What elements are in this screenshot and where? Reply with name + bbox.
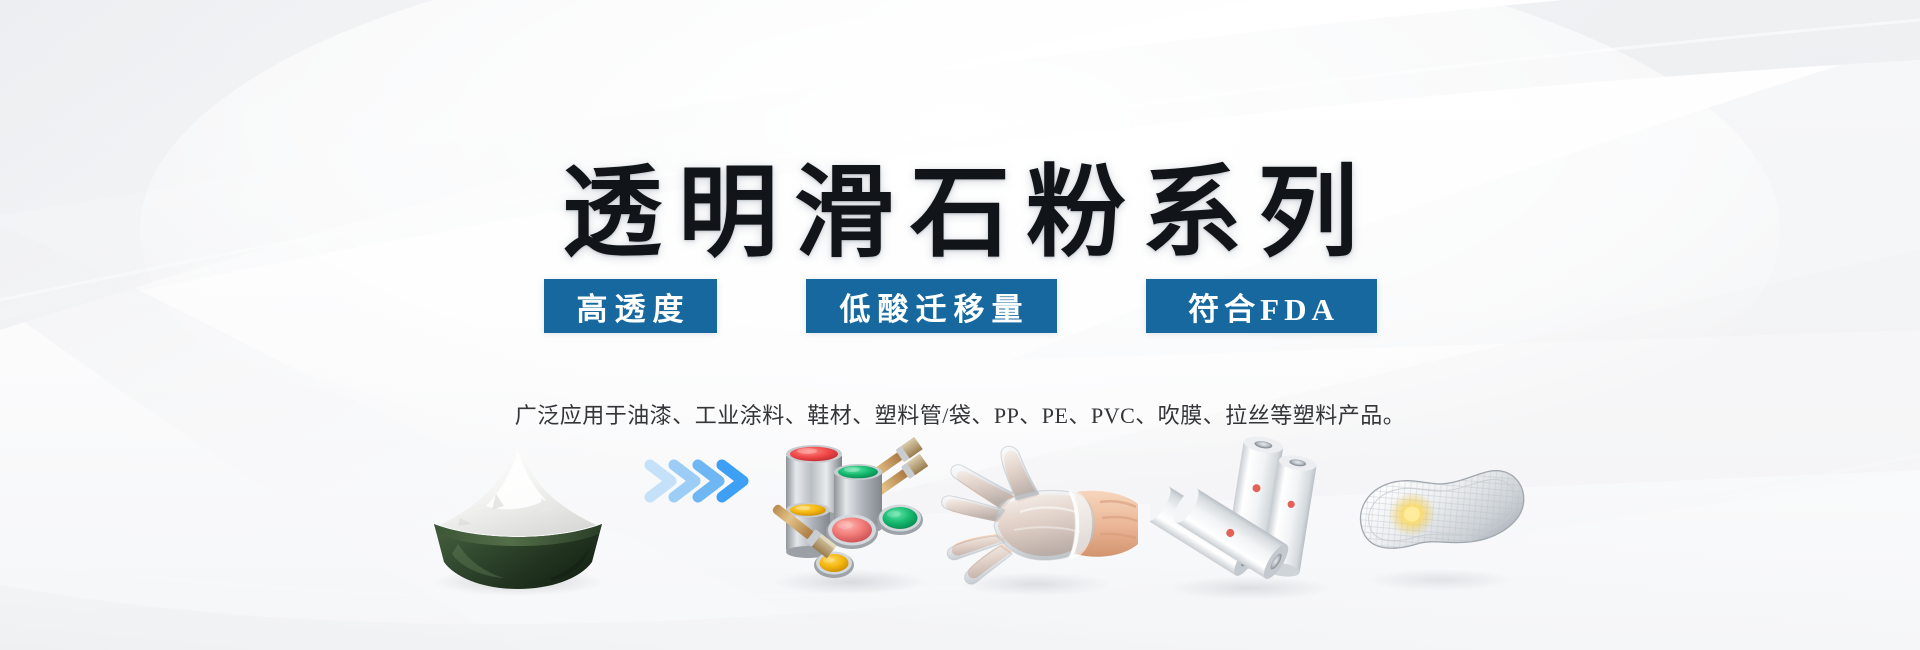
badge-high-transparency[interactable]: 高透度 xyxy=(544,279,717,333)
feature-badge-group: 高透度 低酸迁移量 符合FDA xyxy=(0,279,1920,333)
plastic-glove-hand-image xyxy=(940,432,1140,612)
product-application-strip xyxy=(0,432,1920,612)
application-subtitle: 广泛应用于油漆、工业涂料、鞋材、塑料管/袋、PP、PE、PVC、吹膜、拉丝等塑料… xyxy=(515,398,1406,430)
plastic-film-rolls-image xyxy=(1150,432,1350,612)
talc-powder-bowl-image xyxy=(400,432,630,612)
paint-cans-image xyxy=(760,432,950,612)
badge-fda-compliant[interactable]: 符合FDA xyxy=(1146,279,1377,333)
badge-low-acid-migration[interactable]: 低酸迁移量 xyxy=(806,279,1057,333)
product-banner: 透明滑石粉系列 高透度 低酸迁移量 符合FDA 广泛应用于油漆、工业涂料、鞋材、… xyxy=(0,0,1920,650)
shoe-sole-image xyxy=(1340,432,1540,612)
process-arrow-icon xyxy=(640,432,760,612)
